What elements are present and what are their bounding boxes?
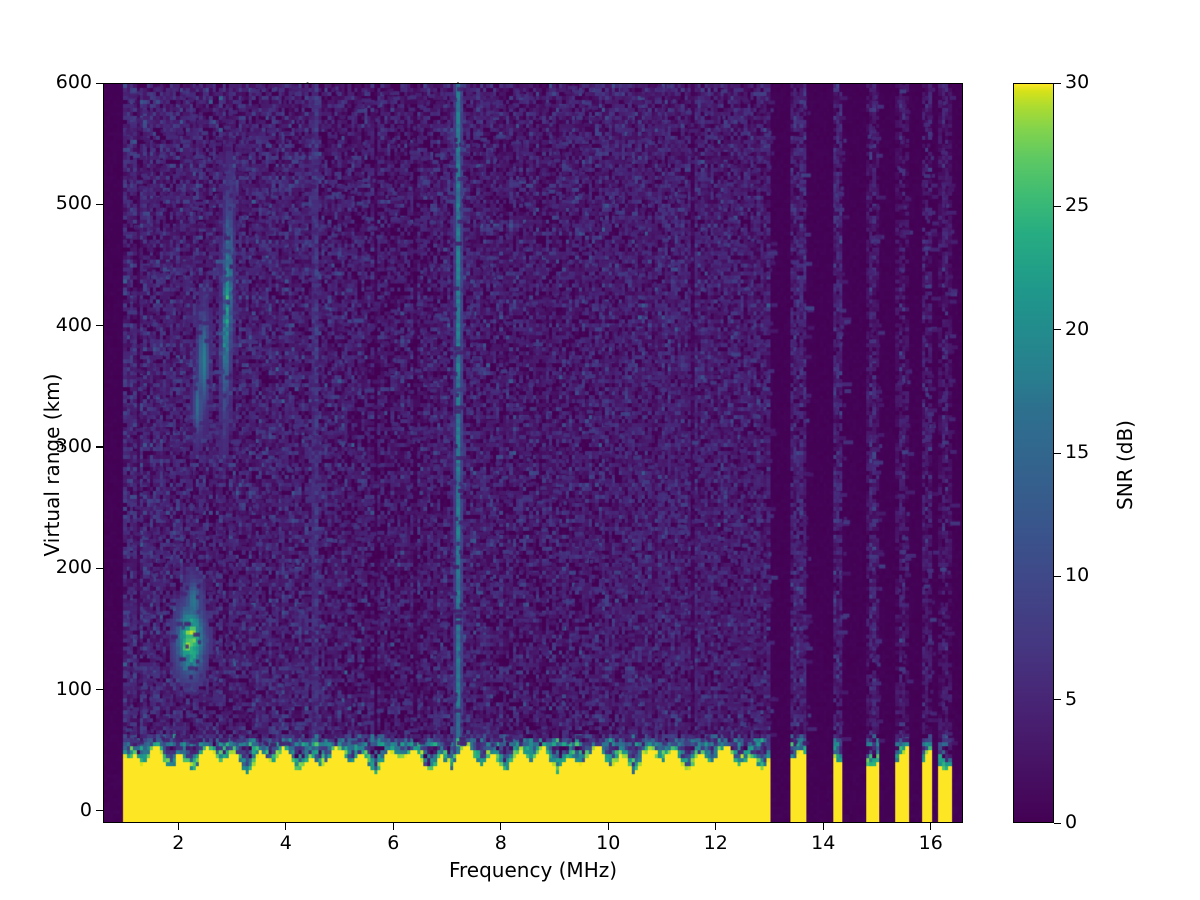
x-axis-label: Frequency (MHz) [103, 858, 963, 882]
colorbar-tick-label: 0 [1065, 813, 1077, 832]
y-tick-mark [96, 325, 103, 326]
colorbar-tick-mark [1054, 329, 1061, 330]
x-tick-mark [500, 823, 501, 830]
x-tick-label: 14 [811, 833, 835, 853]
x-tick-label: 10 [596, 833, 620, 853]
x-tick-mark [393, 823, 394, 830]
colorbar[interactable] [1013, 83, 1054, 823]
x-tick-label: 8 [495, 833, 507, 853]
x-tick-label: 4 [280, 833, 292, 853]
ionogram-plot-area[interactable] [103, 83, 963, 823]
x-tick-mark [178, 823, 179, 830]
colorbar-tick-mark [1054, 83, 1061, 84]
x-tick-mark [930, 823, 931, 830]
colorbar-label: SNR (dB) [1113, 340, 1137, 590]
x-tick-label: 2 [172, 833, 184, 853]
colorbar-tick-mark [1054, 699, 1061, 700]
y-tick-mark [96, 446, 103, 447]
y-tick-label: 100 [56, 680, 92, 699]
y-axis-label: Virtual range (km) [40, 340, 64, 590]
x-tick-label: 6 [387, 833, 399, 853]
x-tick-mark [608, 823, 609, 830]
colorbar-tick-label: 10 [1065, 566, 1089, 585]
colorbar-tick-mark [1054, 576, 1061, 577]
y-tick-label: 400 [56, 316, 92, 335]
x-tick-mark [285, 823, 286, 830]
colorbar-tick-label: 20 [1065, 320, 1089, 339]
x-tick-mark [715, 823, 716, 830]
colorbar-tick-mark [1054, 823, 1061, 824]
y-tick-mark [96, 568, 103, 569]
colorbar-tick-mark [1054, 206, 1061, 207]
y-tick-mark [96, 689, 103, 690]
x-tick-label: 12 [704, 833, 728, 853]
colorbar-tick-label: 25 [1065, 196, 1089, 215]
colorbar-tick-label: 30 [1065, 73, 1089, 92]
ionogram-heatmap [104, 84, 962, 822]
y-tick-label: 0 [80, 801, 92, 820]
x-tick-label: 16 [919, 833, 943, 853]
colorbar-tick-mark [1054, 453, 1061, 454]
x-tick-mark [823, 823, 824, 830]
colorbar-tick-label: 15 [1065, 443, 1089, 462]
y-tick-mark [96, 810, 103, 811]
colorbar-tick-label: 5 [1065, 690, 1077, 709]
